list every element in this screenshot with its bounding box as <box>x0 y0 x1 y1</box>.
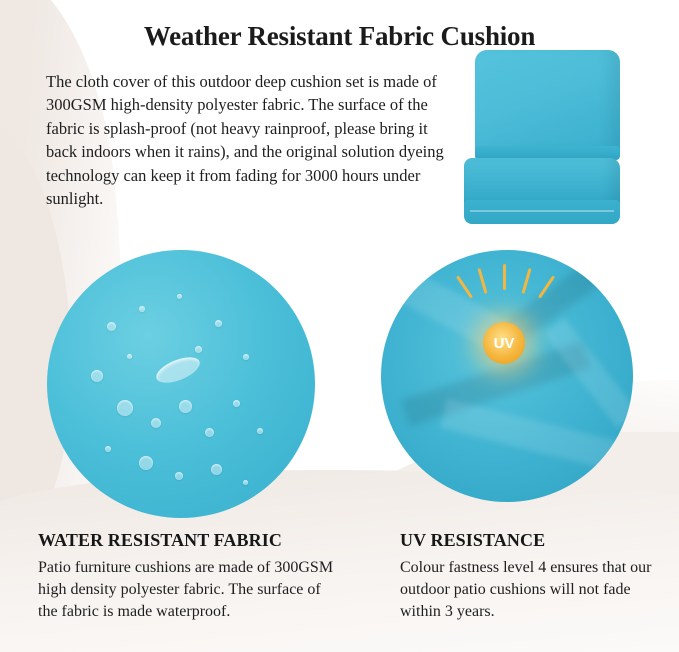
feature-heading-uv: UV RESISTANCE <box>400 530 662 551</box>
uv-rays-icon <box>459 264 555 304</box>
cushion-product-image <box>464 50 624 230</box>
content-wrapper: Weather Resistant Fabric Cushion The clo… <box>0 18 679 210</box>
water-droplet <box>179 400 192 413</box>
water-droplet <box>139 306 145 312</box>
cushion-seat-front <box>464 200 620 224</box>
feature-water-resistant: WATER RESISTANT FABRIC Patio furniture c… <box>38 530 338 623</box>
water-droplet <box>195 346 202 353</box>
uv-badge-label: UV <box>494 335 515 352</box>
intro-paragraph: The cloth cover of this outdoor deep cus… <box>46 70 448 211</box>
water-droplet <box>151 418 161 428</box>
water-resistant-photo <box>47 250 315 518</box>
uv-badge-icon: UV <box>483 322 525 364</box>
water-droplet <box>215 320 222 327</box>
uv-resistance-photo: UV <box>381 250 633 502</box>
infographic-page: Weather Resistant Fabric Cushion The clo… <box>0 0 679 652</box>
cushion-seam-line <box>470 210 614 212</box>
water-droplet <box>211 464 222 475</box>
water-droplet <box>139 456 153 470</box>
feature-body-water: Patio furniture cushions are made of 300… <box>38 557 338 623</box>
cushion-back-pillow <box>475 50 620 158</box>
feature-heading-water: WATER RESISTANT FABRIC <box>38 530 338 551</box>
water-droplet <box>205 428 214 437</box>
water-droplet <box>127 354 132 359</box>
water-droplet <box>243 354 249 360</box>
water-droplet <box>117 400 133 416</box>
feature-body-uv: Colour fastness level 4 ensures that our… <box>400 557 662 623</box>
fabric-fold <box>440 399 622 472</box>
feature-uv-resistance: UV RESISTANCE Colour fastness level 4 en… <box>400 530 662 623</box>
water-droplet-large <box>153 352 203 388</box>
water-droplet <box>175 472 183 480</box>
water-droplet <box>257 428 263 434</box>
water-droplet <box>91 370 103 382</box>
water-droplet <box>177 294 182 299</box>
page-title: Weather Resistant Fabric Cushion <box>0 18 679 52</box>
water-droplet <box>105 446 111 452</box>
water-droplet <box>233 400 240 407</box>
water-droplet <box>243 480 248 485</box>
water-droplet <box>107 322 116 331</box>
